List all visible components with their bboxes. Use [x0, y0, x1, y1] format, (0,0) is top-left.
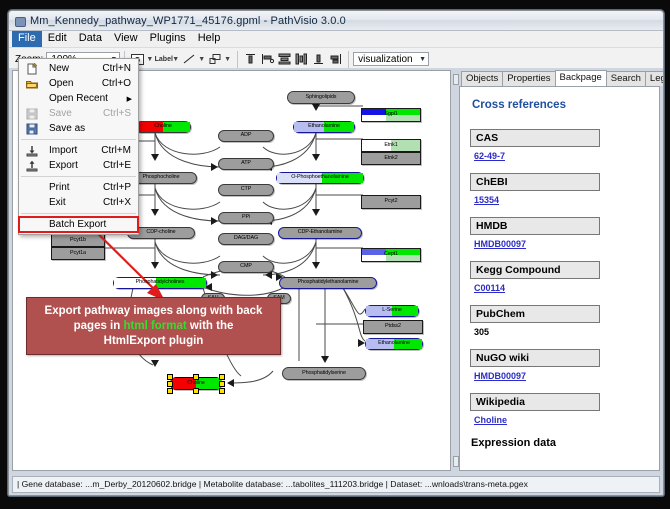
file-menu-print[interactable]: Print Ctrl+P — [19, 180, 138, 195]
xref-source-kegg: Kegg Compound — [470, 261, 600, 279]
pathway-node-phosphatidylserine[interactable]: Phosphatidylserine — [282, 367, 366, 380]
side-panel-tabs[interactable]: Objects Properties Backpage Search Legen… — [459, 70, 660, 86]
file-menu-print-label: Print — [49, 182, 70, 193]
callout-line-2-b: with the — [187, 320, 234, 332]
menu-plugins[interactable]: Plugins — [144, 31, 192, 47]
xref-value-kegg[interactable]: C00114 — [474, 283, 649, 293]
xref-value-hmdb[interactable]: HMDB00097 — [474, 239, 649, 249]
pathway-gene-pcyt1b[interactable]: Pcyt1b — [51, 234, 105, 247]
pathway-gene-etnk2[interactable]: Etnk2 — [361, 152, 421, 165]
pathway-node-adp[interactable]: ADP — [218, 130, 274, 142]
file-menu-separator-3 — [21, 213, 136, 214]
pathway-gene-etnk1[interactable]: Etnk1 — [361, 139, 421, 152]
node-label: CDP-Ethanolamine — [298, 230, 343, 235]
import-icon — [26, 145, 38, 157]
file-menu-export-label: Export — [49, 160, 78, 171]
node-label: L-Serine — [382, 308, 402, 313]
callout-line-2: pages in html format with the — [74, 319, 234, 334]
selection-handle-nw[interactable] — [167, 374, 173, 380]
title-bar: Mm_Kennedy_pathway_WP1771_45176.gpml - P… — [9, 11, 663, 31]
selection-handle-n[interactable] — [193, 374, 199, 380]
gene-label: Sgpl1 — [384, 112, 397, 117]
label-dropdown-icon[interactable]: ▼ — [172, 56, 179, 63]
gene-label: Etnk2 — [384, 156, 397, 161]
backpage-content: Cross references CAS 62-49-7 ChEBI 15354… — [460, 87, 659, 449]
line-dropdown-icon[interactable]: ▼ — [198, 56, 205, 63]
file-menu-export[interactable]: Export Ctrl+E — [19, 158, 138, 173]
xref-link-wikipedia[interactable]: Choline — [474, 415, 507, 425]
node-label: ATP — [241, 161, 251, 166]
menu-edit[interactable]: Edit — [42, 31, 73, 47]
file-menu-import-label: Import — [49, 145, 77, 156]
callout-line-3: HtmlExport plugin — [104, 334, 204, 349]
xref-value-pubchem: 305 — [474, 327, 649, 337]
datanode-dropdown-icon[interactable]: ▼ — [146, 56, 153, 63]
status-text: | Gene database: ...m_Derby_20120602.bri… — [12, 476, 660, 493]
file-menu-export-accel: Ctrl+E — [103, 160, 131, 171]
menu-data[interactable]: Data — [73, 31, 108, 47]
backpage-panel[interactable]: Cross references CAS 62-49-7 ChEBI 15354… — [459, 86, 660, 471]
menu-help[interactable]: Help — [192, 31, 227, 47]
pathway-node-atp[interactable]: ATP — [218, 158, 274, 170]
pathway-node-phosphatidylethanolamine[interactable]: Phosphatidylethanolamine — [279, 277, 377, 289]
pathway-gene-cept1[interactable]: Cept1 — [361, 248, 421, 262]
gene-label: Pcyt1a — [70, 251, 86, 256]
pathway-gene-sgpl1[interactable]: Sgpl1 — [361, 108, 421, 122]
node-label: PPi — [242, 215, 250, 220]
file-menu-separator-2 — [21, 176, 136, 177]
xref-source-cas: CAS — [470, 129, 600, 147]
annotation-callout: Export pathway images along with back pa… — [26, 297, 281, 355]
node-label: DAG/DAG — [234, 236, 258, 241]
align-right-tool-icon[interactable] — [327, 51, 344, 68]
pathway-node-o-phosphoethanolamine[interactable]: O-Phosphoethanolamine — [276, 172, 364, 184]
xref-value-cas[interactable]: 62-49-7 — [474, 151, 649, 161]
file-menu-save-accel: Ctrl+S — [103, 108, 131, 119]
line-tool-icon[interactable] — [181, 51, 198, 68]
screenshot-root: Mm_Kennedy_pathway_WP1771_45176.gpml - P… — [0, 0, 670, 509]
shape-tool-icon[interactable] — [207, 51, 224, 68]
open-folder-icon — [26, 78, 38, 90]
callout-highlight: html format — [123, 320, 186, 332]
file-menu-print-accel: Ctrl+P — [103, 182, 131, 193]
application-window: Mm_Kennedy_pathway_WP1771_45176.gpml - P… — [8, 10, 664, 496]
toolbar-separator-3 — [348, 51, 349, 68]
chevron-down-icon-2: ▼ — [419, 56, 426, 63]
node-label: Ethanolamine — [378, 341, 410, 346]
node-label: ADP — [241, 133, 252, 138]
xref-link-nugo[interactable]: HMDB00097 — [474, 371, 526, 381]
xref-source-wikipedia: Wikipedia — [470, 393, 600, 411]
pathway-node-ethanolamine-bottom[interactable]: Ethanolamine — [365, 338, 423, 350]
xref-source-hmdb: HMDB — [470, 217, 600, 235]
gene-label: Pcyt1b — [70, 238, 86, 243]
node-label: Phosphocholine — [143, 175, 180, 180]
file-menu-open-recent-label: Open Recent — [49, 93, 108, 104]
file-menu-exit-label: Exit — [49, 197, 66, 208]
node-label: Sphingolipids — [306, 95, 337, 100]
distribute-vertical-tool-icon[interactable] — [276, 51, 293, 68]
align-left-tool-icon[interactable] — [259, 51, 276, 68]
selection-handle-e[interactable] — [219, 381, 225, 387]
file-menu-new-label: New — [49, 63, 69, 74]
node-label: Ethanolamine — [308, 124, 340, 129]
callout-line-2-a: pages in — [74, 320, 124, 332]
file-menu-save-as[interactable]: Save as — [19, 121, 138, 136]
save-disk-icon — [26, 108, 38, 120]
selection-handle-s[interactable] — [193, 388, 199, 394]
pathway-node-cdp-ethanolamine[interactable]: CDP-Ethanolamine — [278, 227, 362, 239]
pathway-node-ctp[interactable]: CTP — [218, 184, 274, 196]
xref-value-wikipedia[interactable]: Choline — [474, 415, 649, 425]
file-menu-new[interactable]: New Ctrl+N — [19, 61, 138, 76]
status-bar: | Gene database: ...m_Derby_20120602.bri… — [9, 473, 663, 495]
pathway-node-ethanolamine-top[interactable]: Ethanolamine — [293, 121, 355, 133]
file-menu-save-label: Save — [49, 108, 72, 119]
gene-label: Ptdss2 — [385, 324, 401, 329]
tab-properties[interactable]: Properties — [502, 71, 555, 86]
shape-dropdown-icon[interactable]: ▼ — [224, 56, 231, 63]
menu-bar[interactable]: File Edit Data View Plugins Help — [9, 31, 663, 48]
window-title: Mm_Kennedy_pathway_WP1771_45176.gpml - P… — [30, 15, 346, 27]
xref-link-kegg[interactable]: C00114 — [474, 283, 505, 293]
file-menu-import[interactable]: Import Ctrl+M — [19, 143, 138, 158]
file-menu-dropdown[interactable]: New Ctrl+N Open Ctrl+O Open Recent ▶ Sav… — [18, 58, 139, 235]
node-label: O-Phosphoethanolamine — [291, 175, 349, 180]
xref-source-chebi: ChEBI — [470, 173, 600, 191]
file-menu-open[interactable]: Open Ctrl+O — [19, 76, 138, 91]
selection-handle-se[interactable] — [219, 388, 225, 394]
node-label: CTP — [241, 187, 251, 192]
xref-link-cas[interactable]: 62-49-7 — [474, 151, 505, 161]
selection-handle-w[interactable] — [167, 381, 173, 387]
file-menu-import-accel: Ctrl+M — [101, 145, 131, 156]
xref-source-pubchem: PubChem — [470, 305, 600, 323]
node-label: Choline — [187, 381, 205, 386]
pathway-node-sphingolipids[interactable]: Sphingolipids — [287, 91, 355, 104]
file-menu-exit-accel: Ctrl+X — [103, 197, 131, 208]
file-menu-batch-export-label: Batch Export — [49, 219, 106, 230]
export-icon — [26, 160, 38, 172]
tab-objects[interactable]: Objects — [461, 71, 503, 86]
xref-link-hmdb[interactable]: HMDB00097 — [474, 239, 526, 249]
selection-handle-ne[interactable] — [219, 374, 225, 380]
node-label: CDP-choline — [146, 230, 175, 235]
pathway-node-dag[interactable]: DAG/DAG — [218, 233, 274, 245]
xref-source-nugo: NuGO wiki — [470, 349, 600, 367]
menu-file[interactable]: File — [12, 31, 42, 47]
pathway-node-ppi[interactable]: PPi — [218, 212, 274, 224]
xref-value-chebi[interactable]: 15354 — [474, 195, 649, 205]
align-top-tool-icon[interactable] — [242, 51, 259, 68]
node-label: Choline — [154, 124, 172, 129]
xref-value-nugo[interactable]: HMDB00097 — [474, 371, 649, 381]
pathway-node-choline-top[interactable]: Choline — [135, 121, 191, 133]
distribute-horizontal-tool-icon[interactable] — [293, 51, 310, 68]
file-menu-exit[interactable]: Exit Ctrl+X — [19, 195, 138, 210]
tab-search[interactable]: Search — [606, 71, 646, 86]
new-document-icon — [26, 63, 38, 75]
pathway-node-l-serine[interactable]: L-Serine — [365, 305, 419, 317]
node-label: Phosphatidylethanolamine — [298, 280, 359, 285]
node-label: CMP — [240, 264, 252, 269]
selection-handle-sw[interactable] — [167, 388, 173, 394]
file-menu-save: Save Ctrl+S — [19, 106, 138, 121]
gene-label: Etnk1 — [384, 143, 397, 148]
panel-divider[interactable] — [452, 70, 458, 471]
gene-label: Cept1 — [384, 252, 398, 257]
visualization-value: visualization — [358, 54, 412, 65]
side-panel: Objects Properties Backpage Search Legen… — [459, 70, 660, 471]
label-tool-icon[interactable]: Label — [155, 51, 172, 68]
gene-fill-bl — [362, 255, 386, 261]
file-menu-open-accel: Ctrl+O — [102, 78, 131, 89]
expression-data-heading: Expression data — [471, 437, 649, 449]
save-as-disk-icon — [26, 123, 38, 135]
callout-line-1: Export pathway images along with back — [45, 304, 263, 319]
pathway-node-phosphatidylcholines[interactable]: Phosphatidylcholines — [113, 277, 207, 289]
gene-fill-bl — [362, 115, 386, 121]
gene-label: Pcyt2 — [385, 199, 398, 204]
chevron-right-icon: ▶ — [127, 95, 132, 103]
menu-view[interactable]: View — [108, 31, 144, 47]
tab-backpage[interactable]: Backpage — [555, 70, 607, 86]
node-label: Phosphatidylcholines — [136, 280, 185, 285]
pathway-gene-ptdss2[interactable]: Ptdss2 — [363, 320, 423, 334]
xref-link-chebi[interactable]: 15354 — [474, 195, 499, 205]
file-menu-open-label: Open — [49, 78, 73, 89]
file-menu-separator-1 — [21, 139, 136, 140]
file-menu-batch-export[interactable]: Batch Export — [19, 217, 138, 232]
cross-references-heading: Cross references — [472, 99, 649, 111]
file-menu-open-recent[interactable]: Open Recent ▶ — [19, 91, 138, 106]
pathway-node-cmp[interactable]: CMP — [218, 261, 274, 273]
node-label: Phosphatidylserine — [302, 371, 346, 376]
align-bottom-tool-icon[interactable] — [310, 51, 327, 68]
file-menu-save-as-label: Save as — [49, 123, 85, 134]
file-menu-new-accel: Ctrl+N — [102, 63, 131, 74]
tab-legend[interactable]: Legend — [645, 71, 664, 86]
pathway-gene-pcyt1a[interactable]: Pcyt1a — [51, 247, 105, 260]
visualization-combo[interactable]: visualization ▼ — [353, 52, 429, 66]
pathvisio-app-icon — [13, 14, 26, 27]
toolbar-separator-2 — [237, 51, 238, 68]
pathway-gene-pcyt2[interactable]: Pcyt2 — [361, 195, 421, 209]
